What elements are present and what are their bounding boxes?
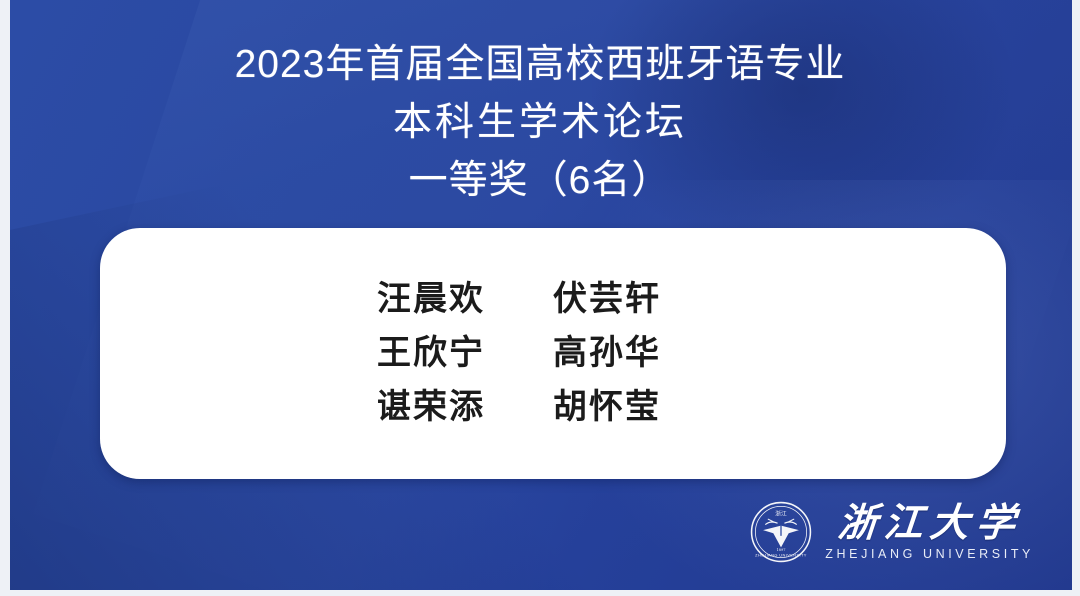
title-line-2: 本科生学术论坛 [0, 94, 1080, 152]
svg-text:浙江: 浙江 [776, 509, 788, 517]
zju-wordmark: 浙江大学 ZHEJIANG UNIVERSITY [825, 504, 1034, 561]
winner-name: 汪晨欢 [377, 278, 553, 320]
winner-row: 谌荣添 胡怀莹 [377, 386, 729, 428]
svg-text:ZHEJIANG UNIVERSITY: ZHEJIANG UNIVERSITY [755, 552, 807, 557]
winner-name-grid: 汪晨欢 伏芸轩 王欣宁 高孙华 谌荣添 胡怀莹 [377, 278, 729, 428]
zju-chinese-name: 浙江大学 [836, 504, 1023, 543]
award-level-line: 一等奖（6名） [0, 152, 1080, 210]
zhejiang-university-seal-icon: 浙江 ZHEJIANG UNIVERSITY 1897 [749, 500, 813, 564]
winner-name: 伏芸轩 [553, 278, 729, 320]
winner-name: 胡怀莹 [553, 386, 729, 428]
title-line-1: 2023年首届全国高校西班牙语专业 [0, 36, 1080, 94]
winner-name-card: 汪晨欢 伏芸轩 王欣宁 高孙华 谌荣添 胡怀莹 [100, 228, 1006, 479]
winner-name: 高孙华 [553, 332, 729, 374]
award-announcement-slide: 2023年首届全国高校西班牙语专业 本科生学术论坛 一等奖（6名） 汪晨欢 伏芸… [0, 0, 1080, 596]
winner-name: 谌荣添 [377, 386, 553, 428]
winner-row: 王欣宁 高孙华 [377, 332, 729, 374]
slide-title-block: 2023年首届全国高校西班牙语专业 本科生学术论坛 一等奖（6名） [0, 36, 1080, 210]
svg-text:1897: 1897 [777, 548, 786, 552]
winner-row: 汪晨欢 伏芸轩 [377, 278, 729, 320]
zhejiang-university-logo: 浙江 ZHEJIANG UNIVERSITY 1897 浙江大学 ZHEJIAN… [749, 500, 1034, 564]
winner-name: 王欣宁 [377, 332, 553, 374]
zju-english-name: ZHEJIANG UNIVERSITY [825, 548, 1034, 561]
